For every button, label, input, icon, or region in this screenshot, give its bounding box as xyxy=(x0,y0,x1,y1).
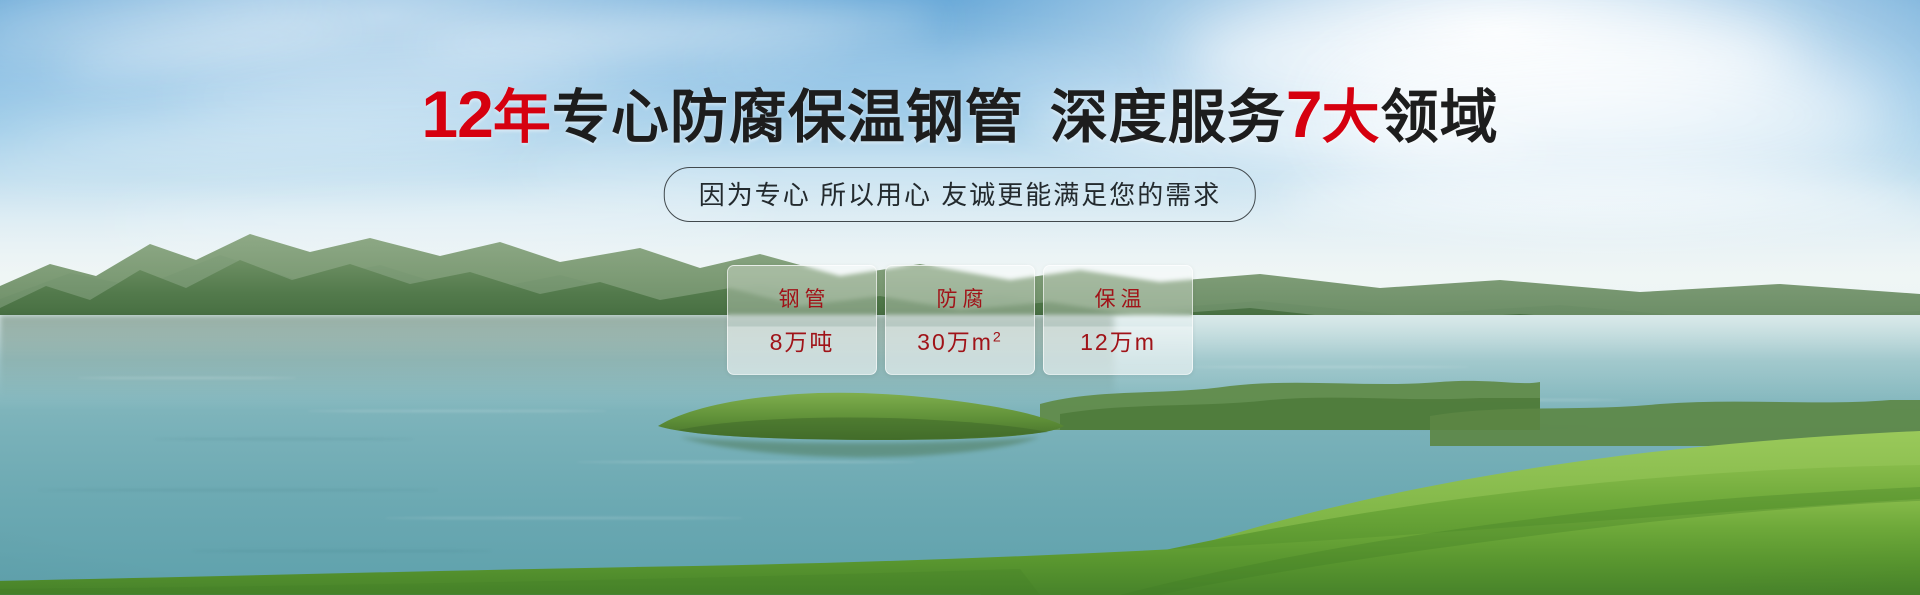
headline-main-text: 专心防腐保温钢管 xyxy=(552,85,1024,150)
headline-service-text: 深度服务 xyxy=(1050,85,1286,150)
headline-years-unit: 年 xyxy=(493,85,552,150)
stat-card-value-text: 12万m xyxy=(1080,329,1156,355)
headline-fields-number: 7 xyxy=(1286,77,1322,151)
stat-card-group: 钢管 8万吨 防腐 30万m2 保温 12万m xyxy=(727,265,1193,375)
stat-card-label: 防腐 xyxy=(932,283,989,313)
stat-card-label: 保温 xyxy=(1090,283,1147,313)
stat-card-anticorrosion[interactable]: 防腐 30万m2 xyxy=(885,265,1035,375)
stat-card-value: 12万m xyxy=(1080,323,1156,357)
stat-card-value: 8万吨 xyxy=(770,323,835,357)
stat-card-value-text: 30万m xyxy=(917,329,993,355)
hero-banner: 12年专心防腐保温钢管深度服务7大领域 因为专心 所以用心 友诚更能满足您的需求… xyxy=(0,0,1920,595)
headline-fields-unit: 大 xyxy=(1322,85,1381,150)
subtitle-pill: 因为专心 所以用心 友诚更能满足您的需求 xyxy=(664,167,1256,222)
headline-fields-text: 领域 xyxy=(1381,85,1499,150)
stat-card-insulation[interactable]: 保温 12万m xyxy=(1043,265,1193,375)
stat-card-value-text: 8万吨 xyxy=(770,329,835,355)
subtitle-text: 因为专心 所以用心 友诚更能满足您的需求 xyxy=(699,180,1221,210)
stat-card-value: 30万m2 xyxy=(917,323,1003,357)
headline-years-number: 12 xyxy=(421,77,492,151)
stat-card-label: 钢管 xyxy=(774,283,831,313)
headline: 12年专心防腐保温钢管深度服务7大领域 xyxy=(0,80,1920,149)
banner-content: 12年专心防腐保温钢管深度服务7大领域 因为专心 所以用心 友诚更能满足您的需求… xyxy=(0,0,1920,595)
stat-card-steel-pipe[interactable]: 钢管 8万吨 xyxy=(727,265,877,375)
stat-card-value-superscript: 2 xyxy=(993,329,1003,345)
